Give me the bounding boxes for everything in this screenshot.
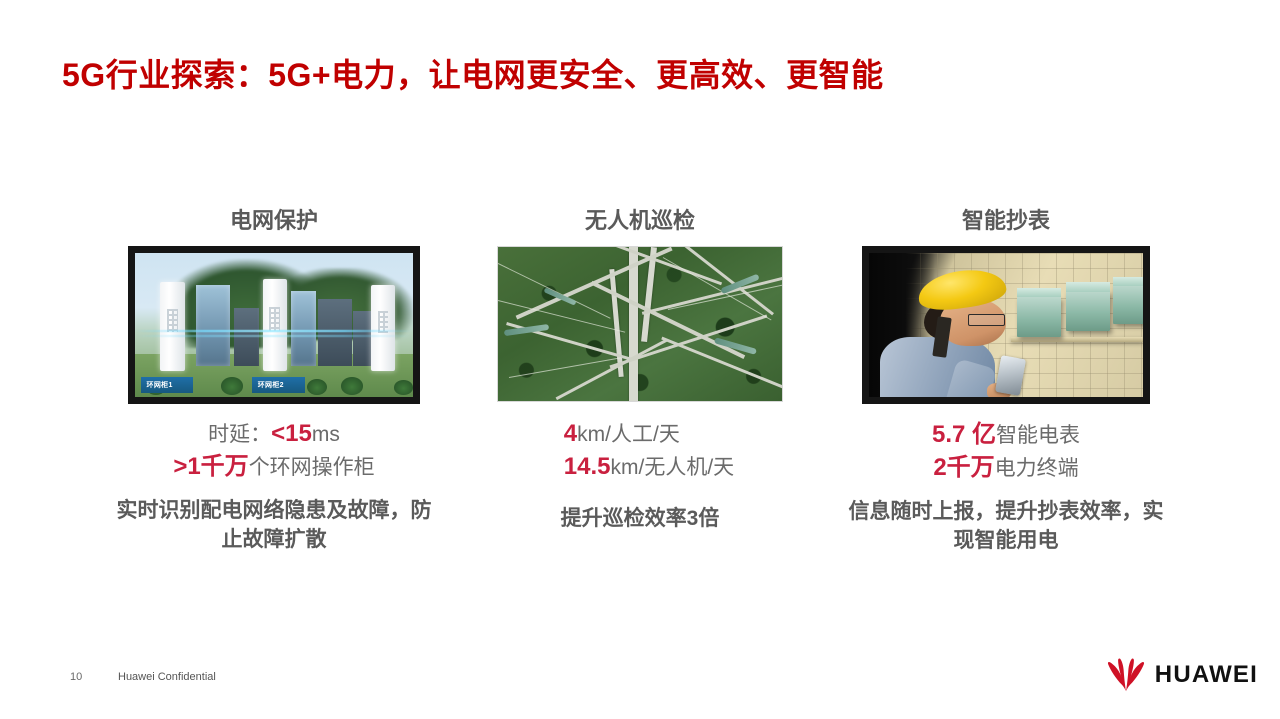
- image-drone-tower: [497, 246, 783, 402]
- stat-prefix: 时延：: [208, 423, 271, 446]
- stat-value: <15: [271, 420, 312, 447]
- column-drone-inspection: 无人机巡检: [457, 208, 823, 534]
- brand-name-text: HUAWEI: [1155, 661, 1258, 689]
- stats-block: 时延：<15ms >1千万个环网操作柜: [173, 418, 374, 482]
- column-description: 提升巡检效率3倍: [561, 505, 720, 534]
- confidentiality-notice: Huawei Confidential: [118, 671, 216, 683]
- column-heading: 无人机巡检: [585, 208, 695, 234]
- column-heading: 电网保护: [230, 208, 318, 234]
- column-heading: 智能抄表: [962, 208, 1050, 234]
- stat-value: 2千万: [933, 454, 994, 481]
- image-meter-reading-worker: [862, 246, 1150, 404]
- huawei-flower-icon: [1106, 658, 1146, 692]
- stat-unit: km/人工/天: [577, 423, 680, 446]
- stats-block: 5.7 亿智能电表 2千万电力终端: [932, 419, 1080, 483]
- stats-block: 4km/人工/天 14.5km/无人机/天: [546, 418, 734, 482]
- column-smart-metering: 智能抄表 5.7 亿智能电表: [823, 208, 1189, 556]
- image-smart-grid-city: 环网柜1 环网柜2: [128, 246, 420, 404]
- huawei-brand-logo: HUAWEI: [1106, 658, 1258, 692]
- column-grid-protection: 电网保护: [91, 208, 457, 555]
- stat-value: 14.5: [564, 453, 611, 480]
- stat-unit: ms: [312, 423, 340, 446]
- stat-unit: km/无人机/天: [611, 456, 735, 479]
- stat-value: 5.7 亿: [932, 421, 996, 448]
- stat-line: 时延：<15ms: [173, 418, 374, 450]
- image-tag-ring-cabinet-2: 环网柜2: [252, 377, 305, 393]
- stat-line: 5.7 亿智能电表: [932, 419, 1080, 451]
- stat-unit: 电力终端: [995, 457, 1079, 480]
- stat-line: 14.5km/无人机/天: [564, 451, 734, 483]
- image-tag-ring-cabinet-1: 环网柜1: [141, 377, 194, 393]
- page-title: 5G行业探索：5G+电力，让电网更安全、更高效、更智能: [62, 56, 884, 94]
- stat-line: 4km/人工/天: [564, 418, 734, 450]
- stat-value: >1千万: [173, 453, 248, 480]
- content-columns: 电网保护: [0, 208, 1280, 556]
- stat-line: 2千万电力终端: [932, 452, 1080, 484]
- stat-unit: 智能电表: [996, 424, 1080, 447]
- stat-line: >1千万个环网操作柜: [173, 451, 374, 483]
- page-number: 10: [70, 671, 82, 683]
- column-description: 信息随时上报，提升抄表效率，实现智能用电: [841, 498, 1171, 556]
- stat-value: 4: [564, 420, 577, 447]
- stat-unit: 个环网操作柜: [249, 456, 375, 479]
- column-description: 实时识别配电网络隐患及故障，防止故障扩散: [109, 497, 439, 555]
